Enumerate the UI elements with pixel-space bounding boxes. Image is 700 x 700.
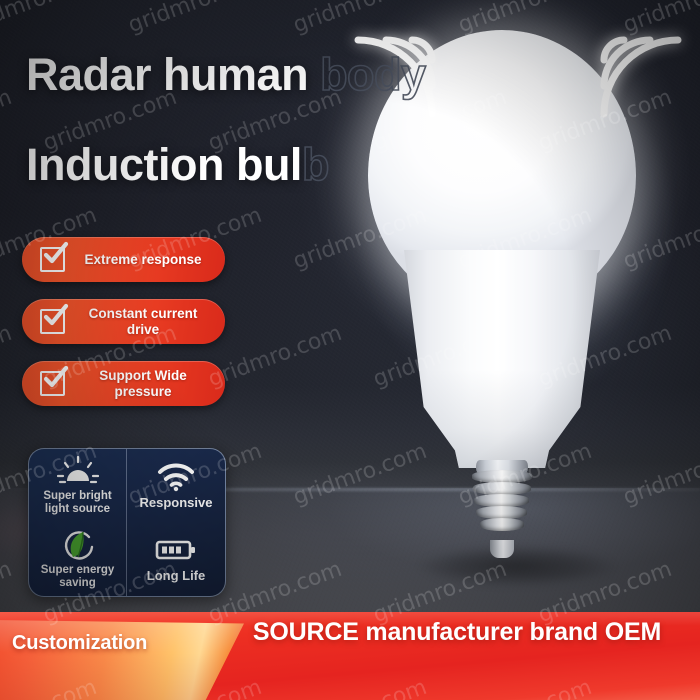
- headline-outline-1: body: [320, 49, 426, 100]
- product-poster: Radar human body Induction bulb Extreme …: [0, 0, 700, 700]
- battery-icon: [155, 534, 197, 566]
- feature-badge-label: Extreme response: [75, 252, 215, 268]
- spec-item-label: Long Life: [147, 569, 206, 584]
- spec-item-responsive[interactable]: Responsive: [127, 449, 225, 523]
- spec-highlight-panel: Super bright light source Responsive: [28, 448, 226, 597]
- spec-item-label: Super energy saving: [41, 564, 115, 590]
- checkbox-icon: [40, 371, 65, 396]
- page-title-line-1: Radar human body: [26, 52, 426, 97]
- headline-solid-1: Radar human: [26, 49, 320, 100]
- feature-badge-label: Support Wide pressure: [75, 368, 215, 400]
- green-leaf-icon: [59, 529, 97, 561]
- headline-outline-2: b: [302, 139, 329, 190]
- spec-item-label: Super bright light source: [43, 490, 111, 516]
- spec-item-super-energy-saving[interactable]: Super energy saving: [29, 523, 127, 597]
- feature-badge-extreme-response[interactable]: Extreme response: [22, 237, 225, 282]
- bulb-base-tip: [490, 540, 514, 558]
- feature-badge-label: Constant current drive: [75, 306, 215, 338]
- headline-solid-2: Induction bul: [26, 139, 302, 190]
- bulb-screw-base: [472, 470, 532, 546]
- checkbox-icon: [40, 309, 65, 334]
- spec-item-label: Responsive: [140, 496, 213, 511]
- bulb-housing: [404, 250, 600, 468]
- customization-label: Customization: [12, 632, 147, 655]
- banner-main-text: SOURCE manufacturer brand OEM: [222, 617, 692, 648]
- feature-badge-constant-current-drive[interactable]: Constant current drive: [22, 299, 225, 344]
- spec-item-long-life[interactable]: Long Life: [127, 523, 225, 597]
- page-title-line-2: Induction bulb: [26, 142, 329, 187]
- feature-badge-support-wide-pressure[interactable]: Support Wide pressure: [22, 361, 225, 406]
- checkbox-icon: [40, 247, 65, 272]
- bulb-shadow: [392, 540, 642, 592]
- spec-item-super-bright-light-source[interactable]: Super bright light source: [29, 449, 127, 523]
- sun-brightness-icon: [57, 455, 99, 487]
- wifi-icon: [157, 461, 195, 493]
